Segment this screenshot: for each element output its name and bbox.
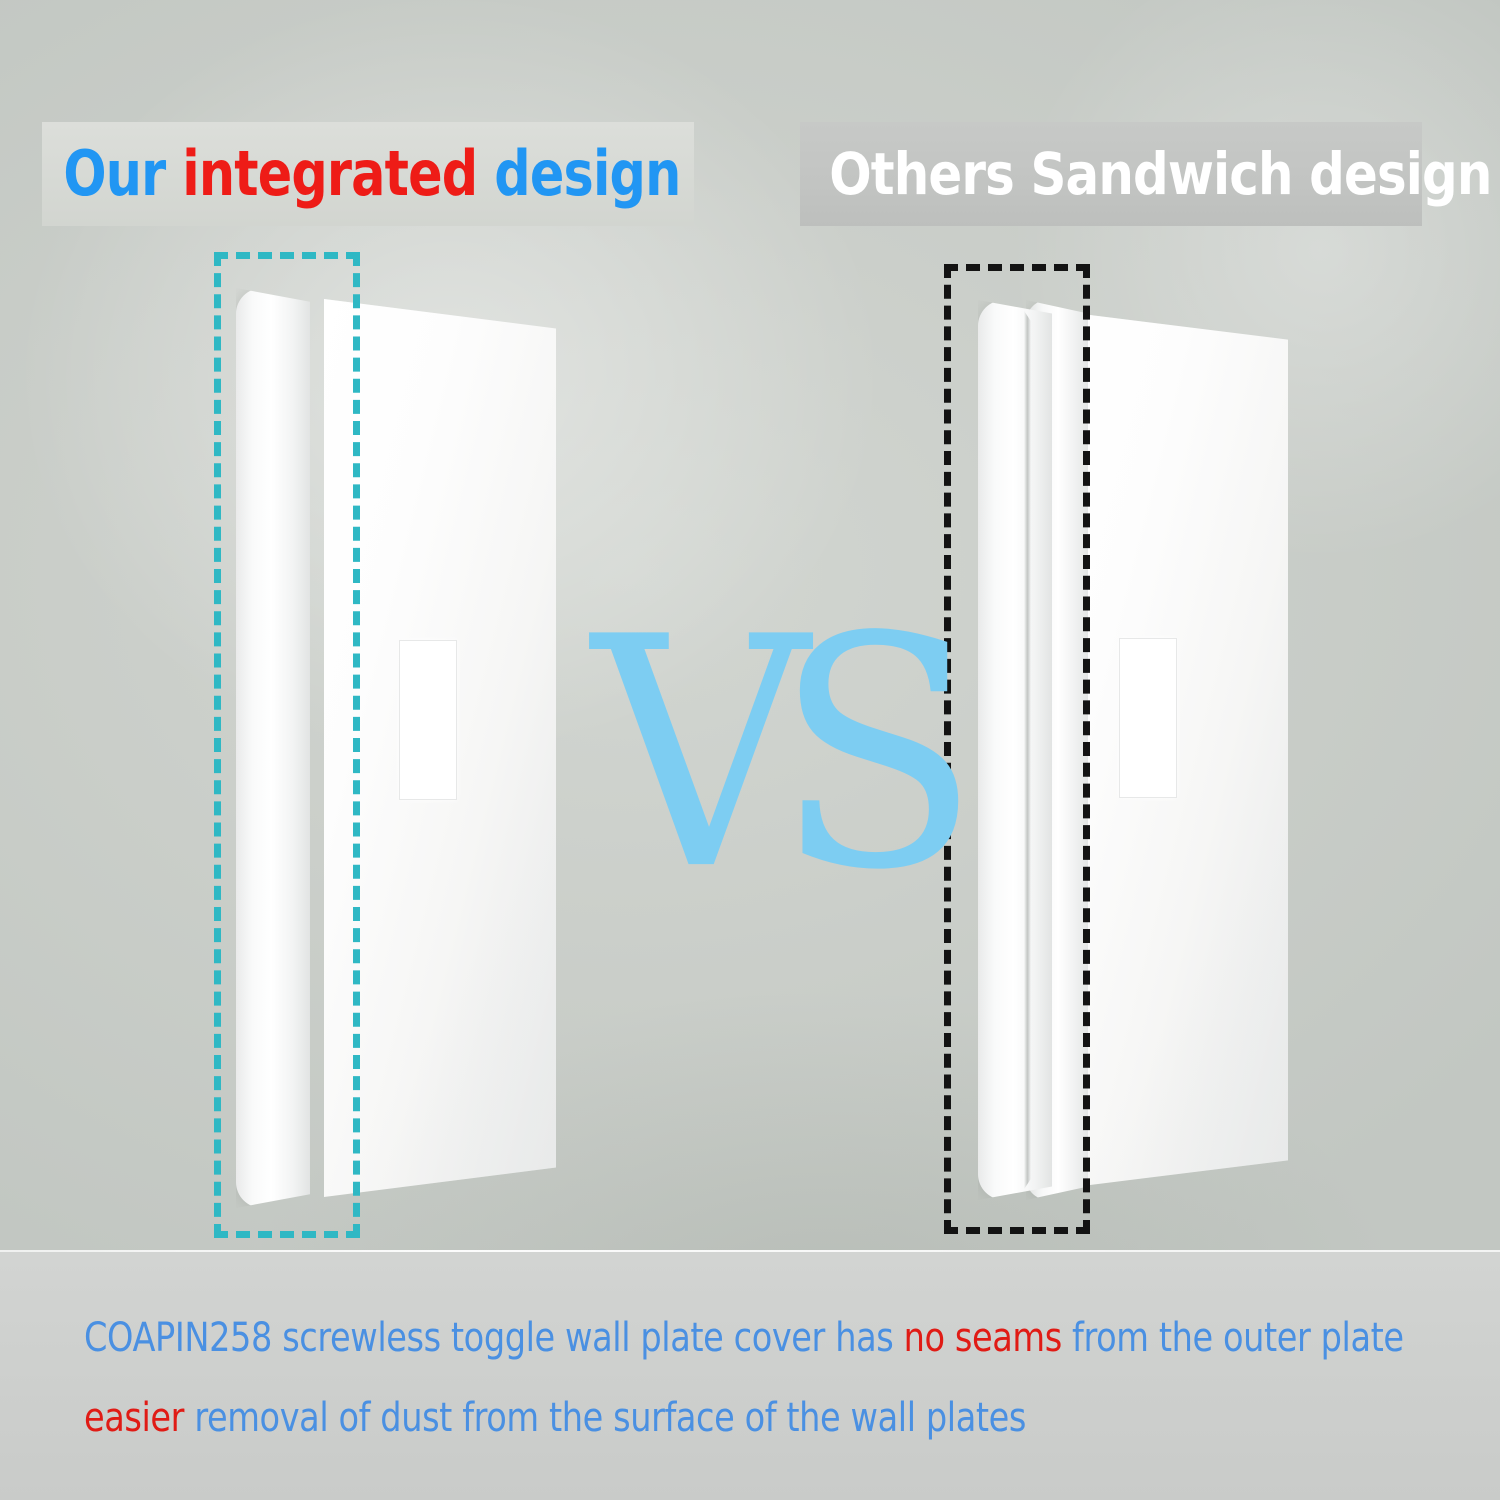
highlight-box-right-black	[944, 264, 1090, 1234]
heading-left-part1: Our	[63, 137, 182, 210]
caption-line-1-part-c: from the outer plate	[1062, 1315, 1404, 1361]
caption-line-2: easier removal of dust from the surface …	[84, 1398, 1026, 1438]
caption-band	[0, 1252, 1500, 1500]
heading-left-part2: integrated	[182, 137, 477, 210]
heading-banner-right: Others Sandwich design	[800, 122, 1422, 226]
heading-left-part3: design	[477, 137, 680, 210]
product-comparison-image: Our integrated design Others Sandwich de…	[0, 0, 1500, 1500]
highlight-box-left-cyan	[214, 252, 360, 1238]
vs-label: VS	[592, 596, 946, 914]
heading-right-text: Others Sandwich design	[800, 145, 1492, 203]
heading-right-label: Others Sandwich design	[829, 140, 1491, 208]
caption-line-1: COAPIN258 screwless toggle wall plate co…	[84, 1318, 1404, 1358]
plate-right-toggle-cutout	[1119, 638, 1177, 798]
caption-line-2-part-b: removal of dust from the surface of the …	[184, 1395, 1026, 1441]
plate-left-toggle-cutout	[399, 640, 457, 800]
caption-line-1-highlight: no seams	[904, 1315, 1062, 1361]
caption-line-1-part-a: COAPIN258 screwless toggle wall plate co…	[84, 1315, 904, 1361]
heading-banner-left: Our integrated design	[42, 122, 694, 226]
caption-line-2-highlight: easier	[84, 1395, 184, 1441]
heading-left-text: Our integrated design	[42, 143, 681, 205]
